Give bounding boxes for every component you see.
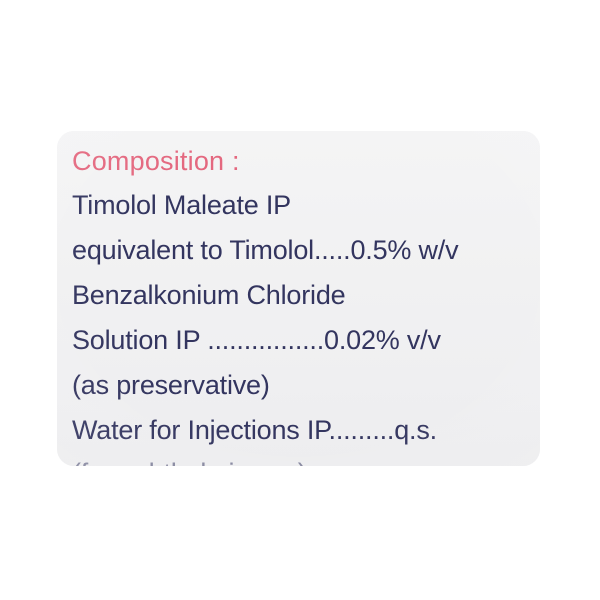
composition-heading: Composition : bbox=[72, 145, 240, 177]
page-background: Composition : Timolol Maleate IP equival… bbox=[0, 0, 600, 600]
ingredient-line-clipped: (for ophthalmic use) bbox=[72, 457, 307, 466]
label-text-block: Composition : Timolol Maleate IP equival… bbox=[57, 131, 540, 466]
ingredient-line-preservative-note: (as preservative) bbox=[72, 369, 270, 401]
ingredient-line-timolol-equivalent: equivalent to Timolol.....0.5% w/v bbox=[72, 234, 458, 266]
ingredient-line-solution-ip: Solution IP ................0.02% v/v bbox=[72, 324, 441, 356]
ingredient-line-timolol-maleate: Timolol Maleate IP bbox=[72, 189, 291, 221]
ingredient-line-benzalkonium-chloride: Benzalkonium Chloride bbox=[72, 279, 345, 311]
ingredient-line-water-for-injections: Water for Injections IP.........q.s. bbox=[72, 414, 437, 446]
composition-label-card: Composition : Timolol Maleate IP equival… bbox=[57, 131, 540, 466]
